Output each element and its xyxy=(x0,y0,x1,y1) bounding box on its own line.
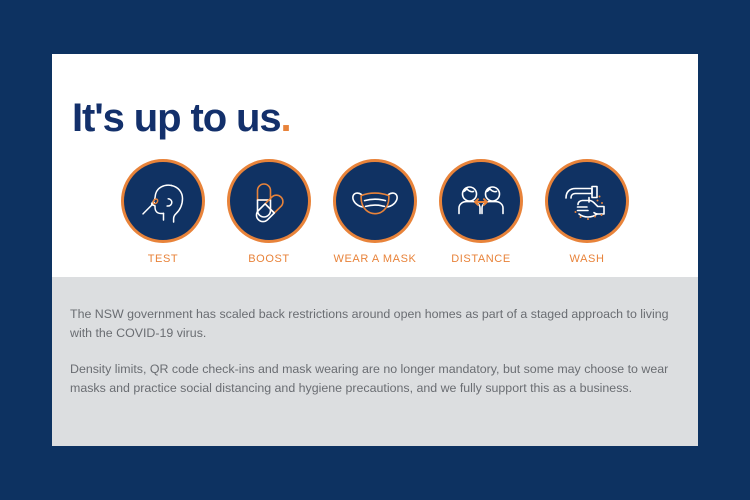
page-title: It's up to us. xyxy=(72,98,291,138)
icon-item-test[interactable]: TEST xyxy=(121,159,205,265)
icon-label: DISTANCE xyxy=(451,253,511,265)
poster-canvas: It's up to us. TEST xyxy=(0,0,750,500)
icon-row: TEST BOOST xyxy=(52,159,698,265)
social-distance-two-people-icon xyxy=(439,159,523,243)
icon-label: WASH xyxy=(570,253,605,265)
icon-item-boost[interactable]: BOOST xyxy=(227,159,311,265)
hand-washing-tap-icon xyxy=(545,159,629,243)
body-paragraph-2: Density limits, QR code check-ins and ma… xyxy=(70,360,672,397)
body-paragraph-1: The NSW government has scaled back restr… xyxy=(70,305,672,342)
icon-item-wear-a-mask[interactable]: WEAR A MASK xyxy=(333,159,417,265)
nasal-swab-test-icon xyxy=(121,159,205,243)
icon-label: WEAR A MASK xyxy=(333,253,416,265)
vaccine-capsules-icon xyxy=(227,159,311,243)
card-header-section: It's up to us. TEST xyxy=(52,54,698,277)
card-body-panel: The NSW government has scaled back restr… xyxy=(52,277,698,446)
icon-label: BOOST xyxy=(248,253,290,265)
face-mask-icon xyxy=(333,159,417,243)
info-card: It's up to us. TEST xyxy=(52,54,698,446)
headline-period: . xyxy=(281,96,291,140)
headline-text: It's up to us xyxy=(72,96,281,140)
icon-item-distance[interactable]: DISTANCE xyxy=(439,159,523,265)
icon-item-wash[interactable]: WASH xyxy=(545,159,629,265)
icon-label: TEST xyxy=(148,253,179,265)
